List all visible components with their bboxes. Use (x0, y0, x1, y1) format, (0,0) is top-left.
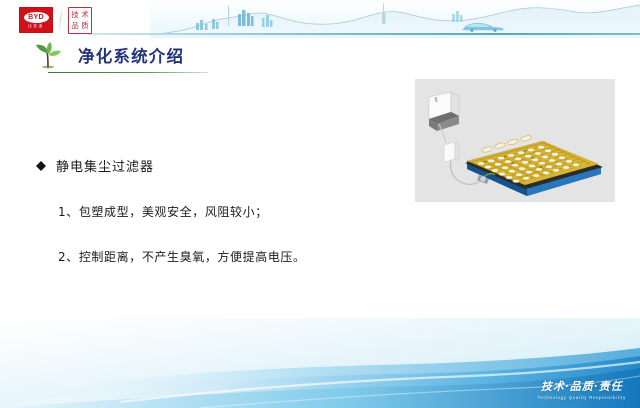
power-supply-box (429, 92, 459, 131)
list-item: 2、控制距离，不产生臭氧，方便提高电压。 (58, 248, 306, 265)
sprout-icon (34, 41, 66, 69)
title-underline (48, 72, 208, 73)
seal-char-3: 品 (70, 20, 80, 32)
byd-logo-oval: BYD (24, 12, 49, 23)
slide-header (0, 0, 640, 40)
footer-slogan: 技术·品质·责任 Technology Quality Responsibili… (537, 381, 626, 400)
seal-char-1: 技 (70, 9, 80, 21)
footer-slogan-cn: 技术·品质·责任 (537, 381, 626, 393)
slide-canvas: BYD 比亚迪 技 术 品 质 净化系统介绍 静电集尘过滤器 1、包塑成型，美观… (0, 0, 640, 408)
byd-logo-text: BYD (28, 14, 44, 21)
diamond-bullet-icon (36, 156, 46, 166)
list-item: 1、包塑成型，美观安全，风阻较小； (58, 203, 268, 220)
connector-plug (444, 142, 459, 162)
slide-title-row: 净化系统介绍 (34, 41, 184, 69)
byd-logo-subtext: 比亚迪 (28, 25, 44, 29)
seal-char-4: 质 (80, 20, 90, 32)
header-divider-line (88, 33, 640, 35)
logo-divider (58, 7, 63, 33)
electrostatic-dust-filter-photo (415, 79, 615, 202)
filter-illustration (415, 79, 615, 202)
brand-logo-group: BYD 比亚迪 技 术 品 质 (19, 6, 92, 34)
quality-seal-logo: 技 术 品 质 (68, 7, 92, 34)
seal-char-2: 术 (80, 9, 90, 21)
byd-logo: BYD 比亚迪 (19, 7, 53, 33)
section-heading-label: 静电集尘过滤器 (56, 156, 154, 175)
page-title: 净化系统介绍 (78, 43, 184, 67)
footer-slogan-en: Technology Quality Responsibility (537, 395, 626, 400)
section-heading: 静电集尘过滤器 (36, 156, 154, 175)
